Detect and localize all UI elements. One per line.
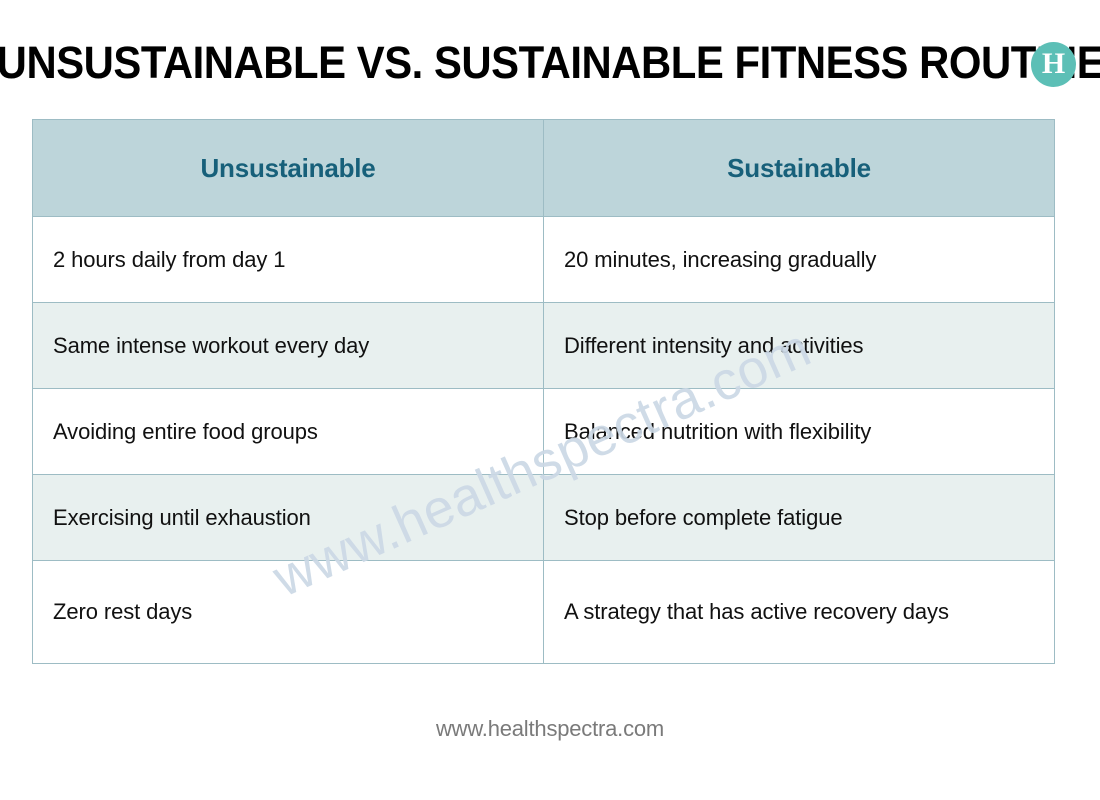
column-header-unsustainable: Unsustainable (33, 120, 544, 217)
table-row: Exercising until exhaustion Stop before … (33, 475, 1055, 561)
cell-unsustainable: 2 hours daily from day 1 (33, 217, 544, 303)
cell-unsustainable: Zero rest days (33, 561, 544, 664)
comparison-table-container: Unsustainable Sustainable 2 hours daily … (32, 119, 1055, 664)
table-header: Unsustainable Sustainable (33, 120, 1055, 217)
footer-url: www.healthspectra.com (0, 716, 1100, 742)
cell-unsustainable: Exercising until exhaustion (33, 475, 544, 561)
column-header-sustainable: Sustainable (544, 120, 1055, 217)
table-header-row: Unsustainable Sustainable (33, 120, 1055, 217)
healthspectra-h-logo-icon: H (1031, 42, 1076, 87)
cell-sustainable: A strategy that has active recovery days (544, 561, 1055, 664)
cell-sustainable: 20 minutes, increasing gradually (544, 217, 1055, 303)
cell-unsustainable: Same intense workout every day (33, 303, 544, 389)
cell-sustainable: Different intensity and activities (544, 303, 1055, 389)
table-row: Same intense workout every day Different… (33, 303, 1055, 389)
table-row: Zero rest days A strategy that has activ… (33, 561, 1055, 664)
page-header: Unsustainable vs. Sustainable Fitness Ro… (0, 0, 1100, 112)
comparison-table: Unsustainable Sustainable 2 hours daily … (32, 119, 1055, 664)
table-body: 2 hours daily from day 1 20 minutes, inc… (33, 217, 1055, 664)
table-row: 2 hours daily from day 1 20 minutes, inc… (33, 217, 1055, 303)
logo-letter: H (1042, 49, 1065, 81)
cell-unsustainable: Avoiding entire food groups (33, 389, 544, 475)
cell-sustainable: Balanced nutrition with flexibility (544, 389, 1055, 475)
table-row: Avoiding entire food groups Balanced nut… (33, 389, 1055, 475)
page-title: Unsustainable vs. Sustainable Fitness Ro… (0, 28, 1100, 85)
cell-sustainable: Stop before complete fatigue (544, 475, 1055, 561)
